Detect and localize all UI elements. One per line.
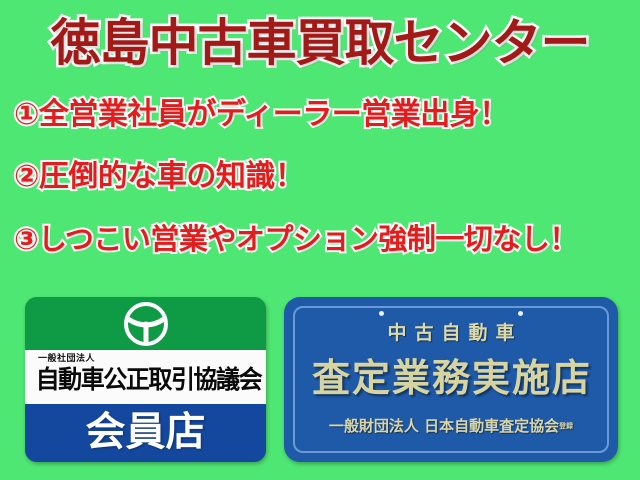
badge-left-organization-name: 自動車公正取引協議会 bbox=[36, 364, 256, 396]
badge-fair-trade-council: 一般社団法人 自動車公正取引協議会 会員店 bbox=[25, 297, 266, 462]
feature-list: ①全営業社員がディーラー営業出身！ ②圧倒的な車の知識！ ③しつこい営業やオプシ… bbox=[14, 98, 634, 256]
plate-bolt-left-icon bbox=[379, 311, 384, 316]
badge-left-header bbox=[25, 297, 266, 350]
page-title: 徳島中古車買取センター bbox=[0, 14, 640, 72]
plate-bolt-right-icon bbox=[518, 311, 523, 316]
feature-item-1: ①全営業社員がディーラー営業出身！ bbox=[14, 98, 634, 132]
badge-left-membership-status: 会員店 bbox=[25, 408, 266, 456]
badge-left-footer: 会員店 bbox=[25, 404, 266, 462]
badge-right-top-text: 中古自動車 bbox=[284, 321, 618, 345]
promo-poster: 徳島中古車買取センター ①全営業社員がディーラー営業出身！ ②圧倒的な車の知識！… bbox=[0, 0, 640, 480]
badge-right-sub-mark: 登録 bbox=[559, 422, 573, 430]
badge-left-body: 一般社団法人 自動車公正取引協議会 bbox=[25, 350, 266, 404]
feature-item-3: ③しつこい営業やオプション強制一切なし！ bbox=[14, 222, 634, 256]
feature-item-2: ②圧倒的な車の知識！ bbox=[14, 160, 634, 194]
badge-appraisal-association: 中古自動車 査定業務実施店 一般財団法人 日本自動車査定協会登録 bbox=[284, 297, 618, 462]
badge-right-main-text: 査定業務実施店 bbox=[284, 354, 618, 402]
steering-wheel-icon bbox=[121, 300, 171, 348]
certification-badges: 一般社団法人 自動車公正取引協議会 会員店 中古自動車 査定業務実施店 一般財団… bbox=[0, 296, 640, 468]
badge-right-sub-wrap: 一般財団法人 日本自動車査定協会登録 bbox=[284, 416, 618, 436]
badge-right-sub-text: 一般財団法人 日本自動車査定協会 bbox=[329, 417, 559, 435]
